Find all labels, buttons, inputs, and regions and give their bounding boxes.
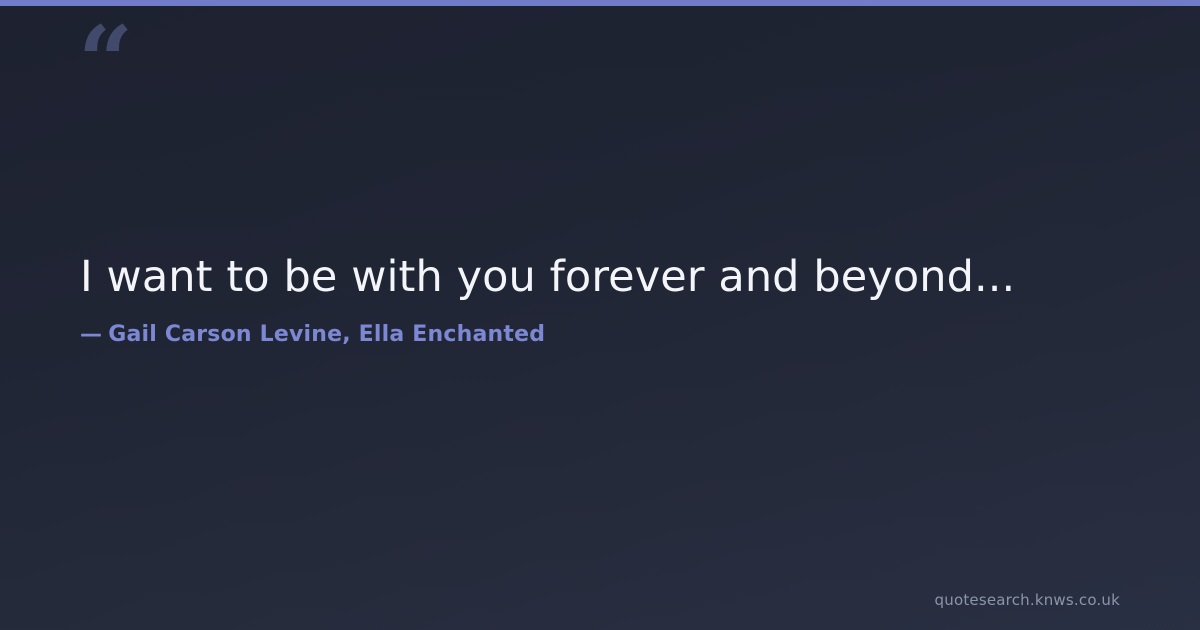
quote-card: “ I want to be with you forever and beyo… xyxy=(0,0,1200,630)
attribution-author-and-work: Gail Carson Levine, Ella Enchanted xyxy=(108,322,545,347)
attribution-dash: — xyxy=(80,322,102,347)
top-accent-bar xyxy=(0,0,1200,6)
quote-attribution: —Gail Carson Levine, Ella Enchanted xyxy=(80,322,1120,348)
card-content: “ I want to be with you forever and beyo… xyxy=(0,0,1200,630)
left-double-quotation-mark-icon: “ xyxy=(78,14,131,110)
quote-block: I want to be with you forever and beyond… xyxy=(80,250,1120,349)
quote-text: I want to be with you forever and beyond… xyxy=(80,250,1120,304)
site-url-label: quotesearch.knws.co.uk xyxy=(935,593,1120,608)
